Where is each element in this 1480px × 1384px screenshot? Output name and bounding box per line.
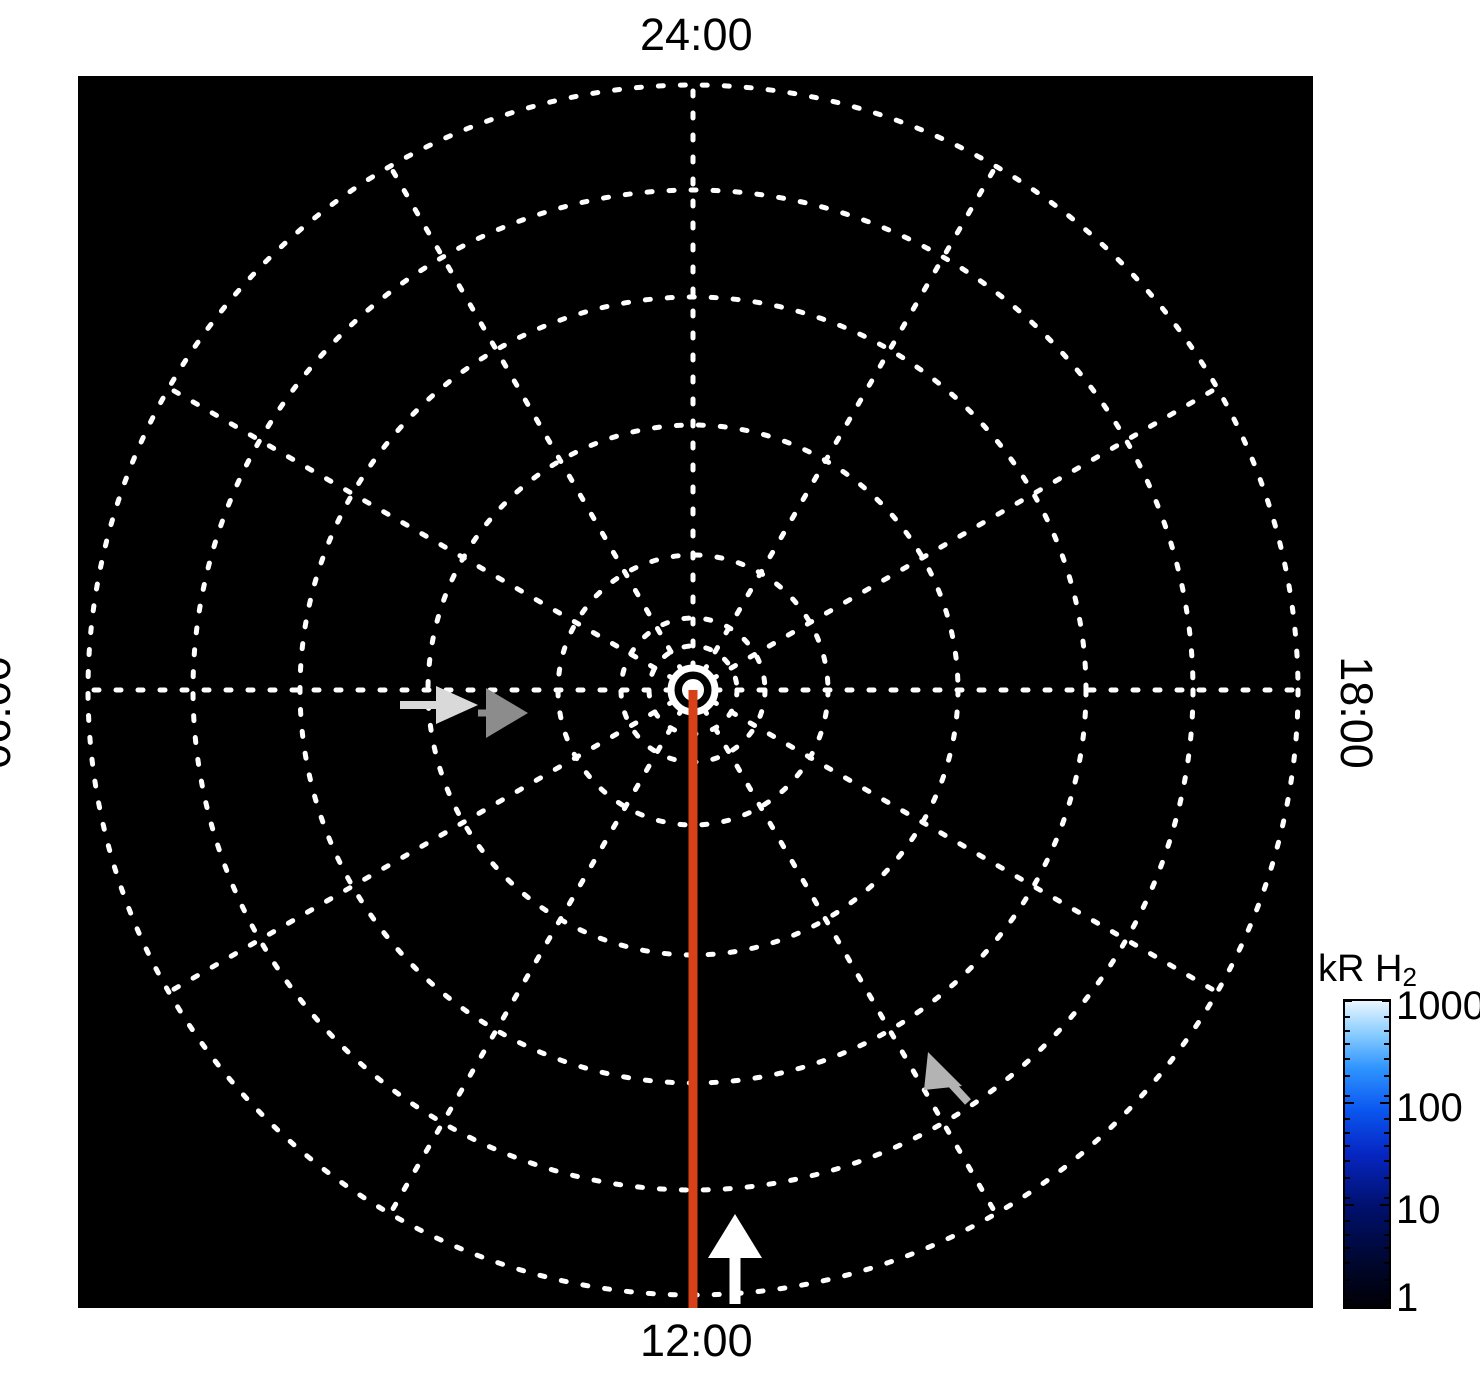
local-time-label-right: 18:00 xyxy=(1334,656,1379,769)
colorbar-tick-1000: 1000 xyxy=(1396,986,1480,1026)
local-time-label-top: 24:00 xyxy=(640,12,753,57)
colorbar-title-text: kR H xyxy=(1318,948,1402,990)
aurora-polar-plot xyxy=(78,76,1313,1308)
local-time-label-left: 06:00 xyxy=(0,656,17,769)
local-time-label-bottom: 12:00 xyxy=(640,1318,753,1363)
aurora-plot-svg xyxy=(78,76,1313,1308)
colorbar-gradient xyxy=(1345,1001,1389,1307)
colorbar-tick-10: 10 xyxy=(1396,1190,1441,1230)
colorbar xyxy=(1343,999,1391,1309)
colorbar-frame xyxy=(1343,999,1391,1309)
colorbar-tick-100: 100 xyxy=(1396,1088,1463,1128)
colorbar-tick-1: 1 xyxy=(1396,1278,1418,1318)
